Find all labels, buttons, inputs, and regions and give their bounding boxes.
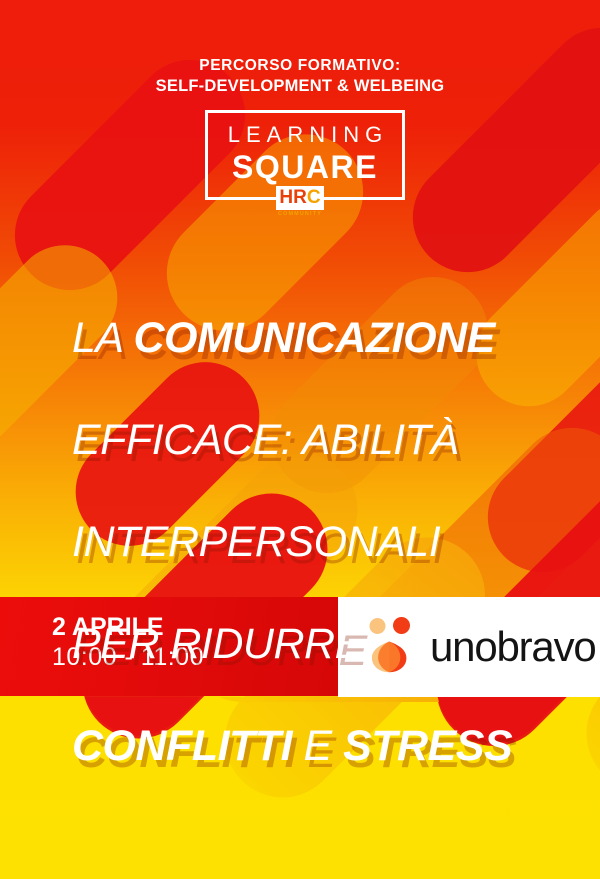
headline-line4: PER RIDURRE [72, 620, 363, 668]
headline-line3: INTERPERSONALI [72, 518, 440, 566]
learning-square-line-2: SQUARE [208, 149, 402, 186]
event-poster: PERCORSO FORMATIVO: SELF-DEVELOPMENT & W… [0, 0, 600, 879]
poster-headline: LA COMUNICAZIONE EFFICACE: ABILITÀ INTER… [72, 262, 542, 772]
headline-line1-light: LA [72, 314, 133, 362]
hrc-letters-hr: HR [279, 187, 306, 208]
poster-kicker: PERCORSO FORMATIVO: SELF-DEVELOPMENT & W… [0, 56, 600, 96]
kicker-line-1: PERCORSO FORMATIVO: [0, 56, 600, 76]
headline-line5-light: E [292, 722, 343, 770]
headline-line5-bold-b: STRESS [343, 722, 512, 770]
hrc-community-badge: HRC COMMUNITY [275, 186, 325, 217]
hrc-mark: HRC [276, 186, 323, 210]
hrc-community-subtitle: COMMUNITY [275, 211, 325, 217]
hrc-letter-c: C [307, 187, 321, 208]
learning-square-line-1: LEARNING [208, 122, 402, 148]
headline-line1-bold: COMUNICAZIONE [133, 314, 494, 362]
headline-line5-bold-a: CONFLITTI [72, 722, 292, 770]
kicker-line-2: SELF-DEVELOPMENT & WELBEING [0, 76, 600, 96]
headline-line2: EFFICACE: ABILITÀ [72, 416, 459, 464]
